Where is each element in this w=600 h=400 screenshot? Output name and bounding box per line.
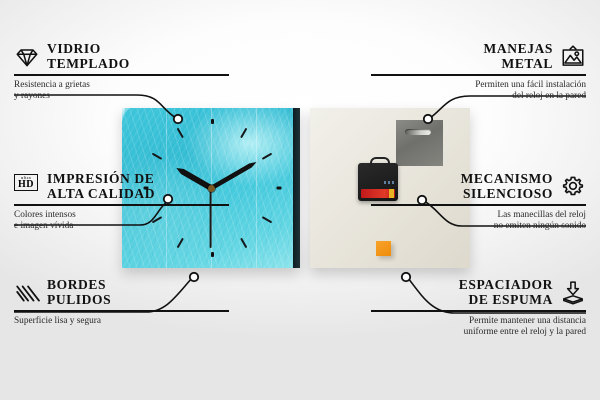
keyhole-slot bbox=[405, 129, 431, 135]
callout-rule bbox=[14, 204, 229, 206]
callout-subtitle: Permiten una fácil instalación del reloj… bbox=[371, 80, 586, 103]
hour-tick bbox=[211, 252, 214, 257]
movement-loop bbox=[370, 157, 390, 167]
gear-icon bbox=[560, 174, 586, 200]
diamond-icon bbox=[14, 44, 40, 70]
hour-tick bbox=[177, 238, 184, 249]
foam-spacer bbox=[376, 241, 391, 256]
callout-title: ESPACIADOR DE ESPUMA bbox=[459, 278, 553, 307]
callout-subtitle: Colores intensos e imagen vívida bbox=[14, 210, 229, 233]
hd-label: HD bbox=[18, 180, 34, 190]
callout-title: IMPRESIÓN DE ALTA CALIDAD bbox=[47, 172, 155, 201]
hour-tick bbox=[262, 153, 273, 160]
callout-title: BORDES PULIDOS bbox=[47, 278, 111, 307]
callout-header: BORDES PULIDOS bbox=[14, 278, 229, 307]
hour-tick bbox=[262, 216, 273, 223]
callout-espaciador-espuma: ESPACIADOR DE ESPUMA Permite mantener un… bbox=[371, 278, 586, 339]
hour-tick bbox=[277, 187, 282, 190]
stripes-icon bbox=[14, 280, 40, 306]
callout-title: MECANISMO SILENCIOSO bbox=[461, 172, 553, 201]
hour-tick bbox=[152, 153, 163, 160]
callout-rule bbox=[14, 310, 229, 312]
callout-rule bbox=[14, 74, 229, 76]
callout-header: MANEJAS METAL bbox=[371, 42, 586, 71]
callout-rule bbox=[371, 74, 586, 76]
callout-vidrio-templado: VIDRIO TEMPLADO Resistencia a grietas y … bbox=[14, 42, 229, 103]
callout-header: MECANISMO SILENCIOSO bbox=[371, 172, 586, 201]
ultra-hd-icon: ultra HD bbox=[14, 174, 40, 200]
callout-rule bbox=[371, 204, 586, 206]
callout-title: VIDRIO TEMPLADO bbox=[47, 42, 130, 71]
foam-spacer-icon bbox=[560, 280, 586, 306]
picture-frame-icon bbox=[560, 44, 586, 70]
callout-bordes-pulidos: BORDES PULIDOS Superficie lisa y segura bbox=[14, 278, 229, 327]
callout-header: ESPACIADOR DE ESPUMA bbox=[371, 278, 586, 307]
callout-subtitle: Superficie lisa y segura bbox=[14, 316, 229, 328]
callout-mecanismo-silencioso: MECANISMO SILENCIOSO Las manecillas del … bbox=[371, 172, 586, 233]
infographic-stage: VIDRIO TEMPLADO Resistencia a grietas y … bbox=[0, 0, 600, 400]
callout-impresion-alta-calidad: ultra HD IMPRESIÓN DE ALTA CALIDAD Color… bbox=[14, 172, 229, 233]
callout-header: VIDRIO TEMPLADO bbox=[14, 42, 229, 71]
hour-tick bbox=[177, 128, 184, 139]
callout-subtitle: Resistencia a grietas y rayones bbox=[14, 80, 229, 103]
callout-subtitle: Las manecillas del reloj no emiten ningú… bbox=[371, 210, 586, 233]
callout-manejas-metal: MANEJAS METAL Permiten una fácil instala… bbox=[371, 42, 586, 103]
hour-tick bbox=[211, 119, 214, 124]
callout-rule bbox=[371, 310, 586, 312]
callout-subtitle: Permite mantener una distancia uniforme … bbox=[371, 316, 586, 339]
callout-title: MANEJAS METAL bbox=[484, 42, 553, 71]
hour-tick bbox=[240, 238, 247, 249]
hanger-plate bbox=[396, 120, 443, 166]
hour-tick bbox=[240, 128, 247, 139]
glass-edge bbox=[293, 108, 300, 268]
callout-header: ultra HD IMPRESIÓN DE ALTA CALIDAD bbox=[14, 172, 229, 201]
